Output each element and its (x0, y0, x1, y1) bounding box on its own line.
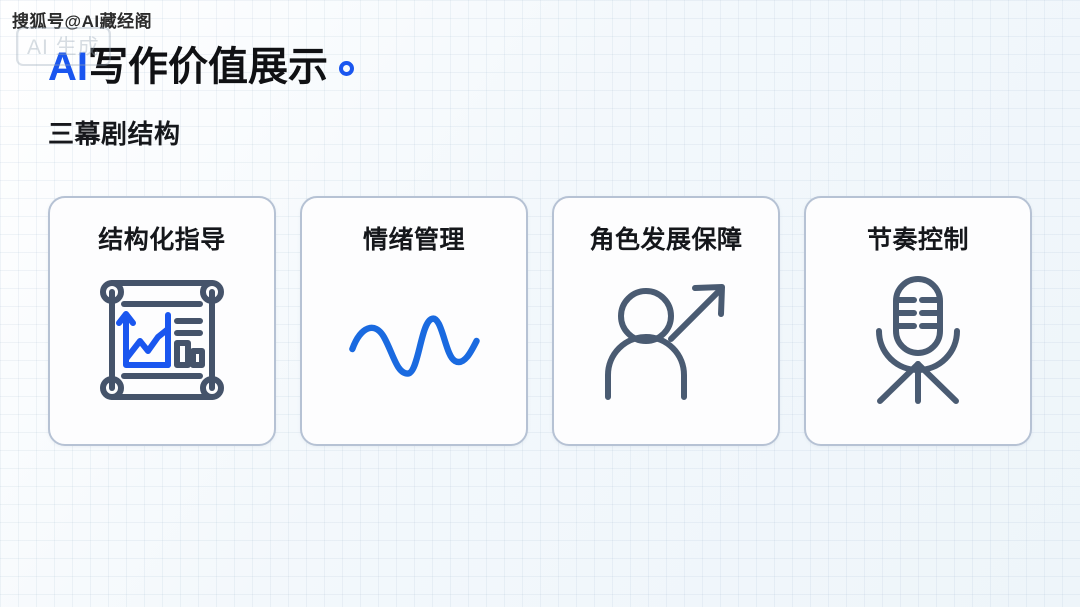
page-subtitle: 三幕剧结构 (48, 121, 181, 147)
feature-card-emotion-management[interactable]: 情绪管理 (300, 196, 528, 446)
card-title: 结构化指导 (98, 228, 226, 253)
feature-card-structured-guidance[interactable]: 结构化指导 (48, 196, 276, 446)
card-title: 角色发展保障 (589, 228, 742, 253)
feature-card-row: 结构化指导 (48, 196, 1032, 446)
feature-card-role-development[interactable]: 角色发展保障 (552, 196, 780, 446)
scroll-chart-icon (94, 275, 230, 405)
watermark-account-text: 搜狐号@AI藏经阁 (12, 7, 152, 32)
watermark: 搜狐号@AI藏经阁 AI 生成 (12, 7, 152, 32)
page-title-accent: AI (48, 45, 88, 89)
slide-canvas: 搜狐号@AI藏经阁 AI 生成 AI写作价值展示 三幕剧结构 结构化指导 (0, 0, 1080, 607)
page-title-rest: 写作价值展示 (88, 45, 328, 89)
page-title: AI写作价值展示 (48, 47, 354, 87)
microphone-stand-icon (850, 275, 986, 405)
feature-card-pacing-control[interactable]: 节奏控制 (804, 196, 1032, 446)
wave-curve-icon (346, 275, 482, 405)
card-title: 情绪管理 (363, 228, 465, 253)
blue-circle-period-icon (339, 61, 354, 76)
person-growth-arrow-icon (598, 275, 734, 405)
card-title: 节奏控制 (867, 228, 969, 253)
